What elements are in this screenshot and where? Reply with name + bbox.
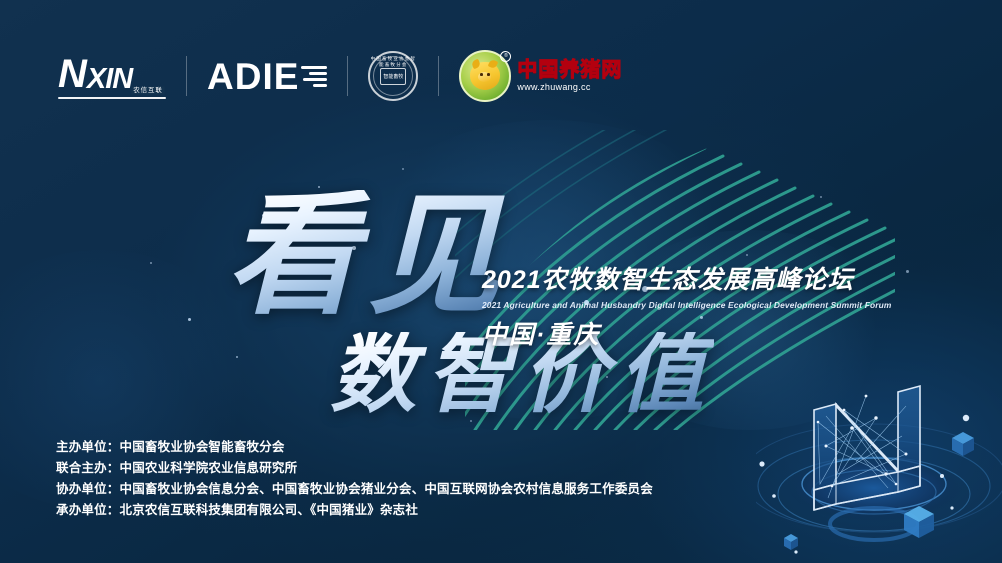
forum-title-cn: 2021农牧数智生态发展高峰论坛 bbox=[482, 260, 892, 296]
sponsor-logo-bar: N XIN 农信互联 ADIE 中国畜牧业协会智能畜牧分会 智能畜牧 bbox=[58, 48, 622, 104]
organizer-value: 北京农信互联科技集团有限公司、《中国猪业》杂志社 bbox=[120, 500, 419, 521]
nxin-logo-underline bbox=[58, 97, 166, 99]
logo-divider-1 bbox=[186, 56, 187, 96]
nxin-logo-chinese: 农信互联 bbox=[131, 86, 164, 94]
zhuwang-logo-url: www.zhuwang.cc bbox=[517, 83, 622, 92]
logo-divider-3 bbox=[438, 56, 439, 96]
pig-mascot-icon: ® bbox=[459, 50, 511, 102]
nxin-logo-mark: N bbox=[58, 54, 86, 94]
forum-location: 中国·重庆 bbox=[482, 315, 892, 351]
registered-mark-icon: ® bbox=[500, 51, 511, 62]
organizer-label: 协办单位： bbox=[56, 479, 120, 500]
zhuwang-logo[interactable]: ® 中国养猪网 www.zhuwang.cc bbox=[459, 50, 622, 102]
adie-circuit-icon bbox=[301, 66, 327, 87]
organizer-label: 联合主办： bbox=[56, 458, 120, 479]
organizer-row: 协办单位： 中国畜牧业协会信息分会、中国畜牧业协会猪业分会、中国互联网协会农村信… bbox=[56, 479, 653, 500]
seal-core-text: 智能畜牧 bbox=[380, 68, 406, 85]
forum-title-en: 2021 Agriculture and Animal Husbandry Di… bbox=[482, 300, 892, 310]
organizer-value: 中国畜牧业协会智能畜牧分会 bbox=[120, 437, 285, 458]
organizer-label: 主办单位： bbox=[56, 437, 120, 458]
organizer-value: 中国畜牧业协会信息分会、中国畜牧业协会猪业分会、中国互联网协会农村信息服务工作委… bbox=[120, 479, 653, 500]
association-seal-logo[interactable]: 中国畜牧业协会智能畜牧分会 智能畜牧 bbox=[368, 51, 418, 101]
conference-poster: N XIN 农信互联 ADIE 中国畜牧业协会智能畜牧分会 智能畜牧 bbox=[0, 0, 1002, 563]
n-emblem-graphic bbox=[756, 366, 1002, 563]
seal-arc-text: 中国畜牧业协会智能畜牧分会 bbox=[370, 56, 416, 68]
organizer-label: 承办单位： bbox=[56, 500, 120, 521]
logo-divider-2 bbox=[347, 56, 348, 96]
zhuwang-logo-chinese: 中国养猪网 bbox=[517, 60, 622, 80]
adie-logo-word: ADIE bbox=[207, 58, 299, 95]
organizer-value: 中国农业科学院农业信息研究所 bbox=[120, 458, 298, 479]
nxin-logo-word: XIN bbox=[87, 65, 132, 94]
forum-title-block: 2021农牧数智生态发展高峰论坛 2021 Agriculture and An… bbox=[482, 260, 892, 351]
organizer-list: 主办单位： 中国畜牧业协会智能畜牧分会 联合主办： 中国农业科学院农业信息研究所… bbox=[56, 437, 653, 521]
organizer-row: 承办单位： 北京农信互联科技集团有限公司、《中国猪业》杂志社 bbox=[56, 500, 653, 521]
headline-line-1: 看见 bbox=[226, 190, 510, 322]
organizer-row: 联合主办： 中国农业科学院农业信息研究所 bbox=[56, 458, 653, 479]
nxin-logo[interactable]: N XIN 农信互联 bbox=[58, 54, 166, 99]
adie-logo[interactable]: ADIE bbox=[207, 58, 327, 95]
organizer-row: 主办单位： 中国畜牧业协会智能畜牧分会 bbox=[56, 437, 653, 458]
